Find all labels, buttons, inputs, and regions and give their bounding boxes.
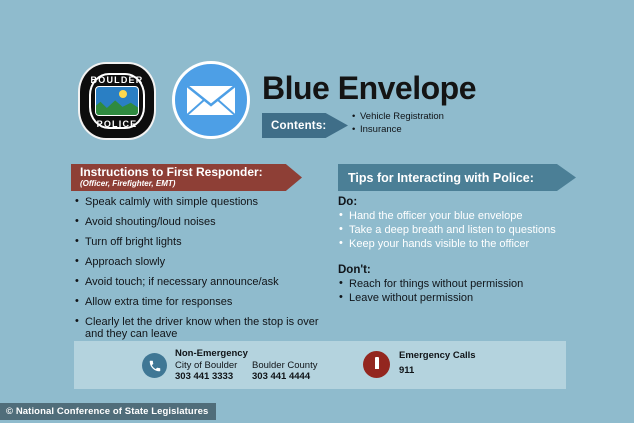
emergency-number[interactable]: 911 bbox=[399, 365, 414, 376]
tips-banner: Tips for Interacting with Police: bbox=[338, 164, 576, 191]
contents-label: Contents: bbox=[262, 120, 326, 132]
list-item: Allow extra time for responses bbox=[74, 296, 324, 308]
badge-bottom-word: POLICE bbox=[78, 119, 156, 129]
do-heading: Do: bbox=[338, 196, 588, 208]
first-responder-instructions-list: Speak calmly with simple questions Avoid… bbox=[74, 196, 324, 348]
page-title: Blue Envelope bbox=[262, 70, 476, 107]
list-item: Keep your hands visible to the officer bbox=[338, 237, 588, 251]
instructions-banner: Instructions to First Responder: (Office… bbox=[71, 164, 302, 191]
contact-number[interactable]: 303 441 4444 bbox=[252, 371, 317, 383]
instructions-banner-subtitle: (Officer, Firefighter, EMT) bbox=[80, 179, 302, 189]
blue-envelope-poster: BOULDER POLICE Blue Envelope Contents: V… bbox=[0, 0, 634, 423]
list-item: Avoid touch; if necessary announce/ask bbox=[74, 276, 324, 288]
contents-list: Vehicle Registration Insurance bbox=[352, 110, 444, 136]
contact-name: City of Boulder bbox=[175, 360, 237, 371]
envelope-icon bbox=[172, 61, 250, 139]
sun-icon bbox=[119, 90, 127, 98]
list-item: Leave without permission bbox=[338, 291, 588, 305]
list-item: Hand the officer your blue envelope bbox=[338, 209, 588, 223]
list-item: Speak calmly with simple questions bbox=[74, 196, 324, 208]
exclamation-icon bbox=[363, 351, 390, 378]
emergency-calls-label: Emergency Calls bbox=[399, 350, 476, 361]
non-emergency-label: Non-Emergency bbox=[175, 348, 248, 359]
list-item: Approach slowly bbox=[74, 256, 324, 268]
tips-banner-title: Tips for Interacting with Police: bbox=[348, 171, 576, 185]
instructions-banner-title: Instructions to First Responder: bbox=[80, 166, 302, 179]
phone-icon bbox=[142, 353, 167, 378]
list-item: Turn off bright lights bbox=[74, 236, 324, 248]
badge-mountain-scene bbox=[95, 86, 139, 116]
tips-content: Do: Hand the officer your blue envelope … bbox=[338, 196, 588, 318]
mountain-icon bbox=[95, 97, 139, 116]
envelope-flap bbox=[185, 84, 237, 117]
list-item: Take a deep breath and listen to questio… bbox=[338, 223, 588, 237]
contact-name: Boulder County bbox=[252, 360, 317, 371]
list-item: Clearly let the driver know when the sto… bbox=[74, 316, 324, 340]
list-item: Reach for things without permission bbox=[338, 277, 588, 291]
attribution-text: © National Conference of State Legislatu… bbox=[6, 406, 208, 417]
dont-heading: Don't: bbox=[338, 264, 588, 276]
list-item: Insurance bbox=[352, 123, 444, 136]
attribution-bar: © National Conference of State Legislatu… bbox=[0, 403, 216, 420]
contact-panel: Non-Emergency City of Boulder 303 441 33… bbox=[74, 341, 566, 389]
contents-banner: Contents: bbox=[262, 113, 348, 138]
boulder-police-badge: BOULDER POLICE bbox=[78, 62, 156, 140]
list-item: Vehicle Registration bbox=[352, 110, 444, 123]
contact-city-of-boulder: City of Boulder 303 441 3333 bbox=[175, 360, 237, 383]
contact-number[interactable]: 303 441 3333 bbox=[175, 371, 237, 383]
poster-header: BOULDER POLICE Blue Envelope Contents: V… bbox=[0, 52, 634, 152]
exclamation-glyph bbox=[375, 357, 379, 372]
do-list: Hand the officer your blue envelope Take… bbox=[338, 209, 588, 251]
contact-boulder-county: Boulder County 303 441 4444 bbox=[252, 360, 317, 383]
list-item: Avoid shouting/loud noises bbox=[74, 216, 324, 228]
dont-list: Reach for things without permission Leav… bbox=[338, 277, 588, 305]
badge-top-word: BOULDER bbox=[78, 75, 156, 85]
